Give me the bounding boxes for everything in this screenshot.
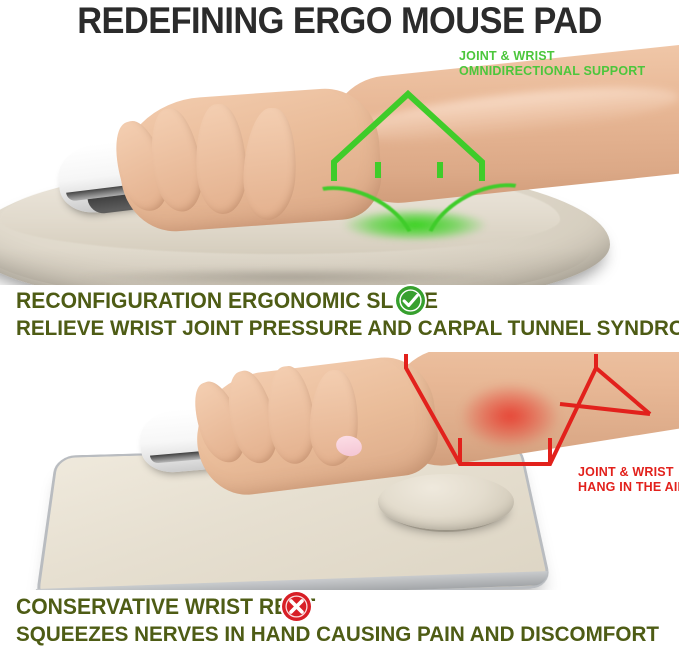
bottom-annotation-line1: JOINT & WRIST [578, 464, 674, 480]
x-circle-icon [282, 592, 311, 621]
arrow-up-icon [330, 86, 490, 186]
bottom-product-photo: JOINT & WRIST HANG IN THE AIR [0, 352, 679, 590]
middle-text-line2: RELIEVE WRIST JOINT PRESSURE AND CARPAL … [16, 316, 679, 341]
ergonomic-pad-shadow [0, 268, 590, 285]
check-circle-icon [396, 286, 425, 315]
bottom-text-line2: SQUEEZES NERVES IN HAND CAUSING PAIN AND… [16, 622, 659, 647]
top-product-photo: JOINT & WRIST OMNIDIRECTIONAL SUPPORT [0, 42, 679, 285]
bottom-text-line1: CONSERVATIVE WRIST REST [16, 594, 315, 620]
page-title: REDEFINING ERGO MOUSE PAD [24, 0, 655, 42]
top-annotation-line2: OMNIDIRECTIONAL SUPPORT [459, 63, 645, 79]
bottom-annotation-line2: HANG IN THE AIR [578, 479, 679, 495]
top-annotation-line1: JOINT & WRIST [459, 48, 555, 64]
middle-benefit-text: RECONFIGURATION ERGONOMIC SLOPE RELIEVE … [0, 288, 679, 352]
middle-text-line1: RECONFIGURATION ERGONOMIC SLOPE [16, 288, 438, 314]
bottom-drawback-text: CONSERVATIVE WRIST REST SQUEEZES NERVES … [0, 594, 679, 650]
